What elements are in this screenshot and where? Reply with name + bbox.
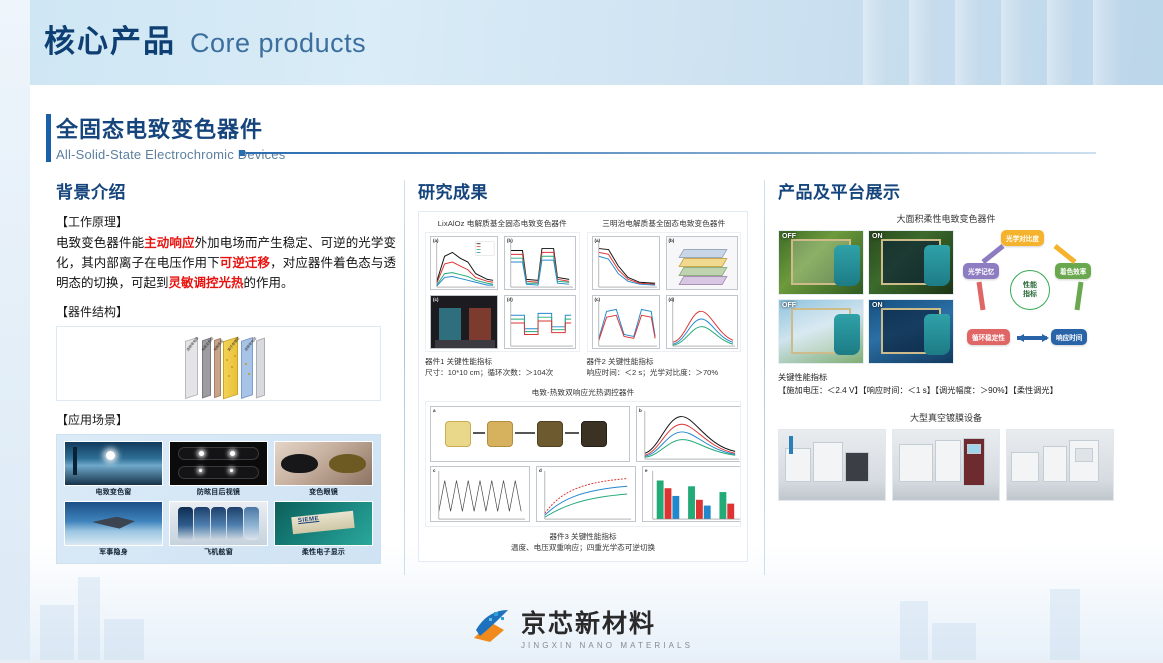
photo-sky-on[interactable]: ON [868, 299, 954, 364]
principle-highlight-2: 可逆迁移 [220, 256, 270, 270]
flexible-demo-row: OFF ON OFF ON [778, 230, 1114, 364]
flexible-device-title: 大面积柔性电致变色器件 [778, 212, 1114, 225]
photo-leaf-on[interactable]: ON [868, 230, 954, 295]
slide-root: 核心产品 Core products 全固态电致变色器件 All-Solid-S… [0, 0, 1163, 663]
structure-label: 【器件结构】 [56, 303, 396, 320]
section-divider-rule [246, 152, 1096, 154]
state-label-off-2: OFF [782, 302, 796, 309]
app-caption-1: 电致变色窗 [64, 487, 163, 497]
principle-paragraph: 电致变色器件能主动响应外加电场而产生稳定、可逆的光学变化，其内部离子在电压作用下… [56, 233, 396, 293]
hand-glove-1 [834, 245, 859, 287]
research-heading: 研究成果 [418, 178, 754, 203]
photo-sky-off[interactable]: OFF [778, 299, 864, 364]
device2-title: 三明治电解质基全固态电致变色器件 [587, 218, 742, 229]
column-research: 研究成果 LixAlOz 电解质基全固态电致变色器件 (a) [418, 178, 754, 562]
device-state-photos: OFF ON OFF ON [778, 230, 954, 364]
device2-caption-line2: 响应时间：＜2 s；光学对比度：＞70% [587, 367, 742, 378]
device2-figure: (a) (b) [587, 232, 742, 352]
app-caption-5: 飞机舷窗 [169, 547, 268, 557]
principle-highlight-1: 主动响应 [144, 236, 194, 250]
device1-caption-line1: 器件1 关键性能指标 [425, 356, 580, 367]
logo-name-cn: 京芯新材料 [521, 604, 693, 640]
metric-arrows [963, 230, 1109, 350]
page-title-cn: 核心产品 [44, 16, 176, 61]
hand-glove-4 [924, 314, 949, 356]
state-label-on-2: ON [872, 302, 883, 309]
logo-text: 京芯新材料 JINGXIN NANO MATERIALS [521, 604, 693, 650]
research-device-2[interactable]: 三明治电解质基全固态电致变色器件 (a) [587, 218, 742, 378]
section-title-en: All-Solid-State Electrochromic Devices [56, 147, 285, 162]
layer-transparent-conductor-back [256, 338, 265, 399]
equipment-photo-1[interactable] [778, 429, 886, 501]
background-heading: 背景介绍 [56, 178, 396, 203]
column-background: 背景介绍 【工作原理】 电致变色器件能主动响应外加电场而产生稳定、可逆的光学变化… [56, 178, 396, 564]
scene-label: 【应用场景】 [56, 411, 396, 428]
principle-label: 【工作原理】 [56, 213, 396, 230]
slide-header: 核心产品 Core products [30, 0, 1163, 85]
section-title-cn: 全固态电致变色器件 [56, 112, 285, 144]
photo-leaf-off[interactable]: OFF [778, 230, 864, 295]
device3-caption-line1: 器件3 关键性能指标 [425, 531, 741, 542]
device1-caption-line2: 尺寸：10*10 cm；循环次数：＞104次 [425, 367, 580, 378]
key-performance-spec: 关键性能指标 【施加电压：＜2.4 V】【响应时间：＜1 s】【调光幅度：＞90… [778, 371, 1114, 397]
anti-glare-mirror-image [169, 441, 268, 486]
layer-stack-diagram: 透明导电层 电致变色层 电解质层 离子存储层 透明导电层 [185, 331, 275, 397]
app-scenario-3[interactable]: 变色眼镜 [274, 441, 373, 497]
device1-title: LixAlOz 电解质基全固态电致变色器件 [425, 218, 580, 229]
app-scenario-4[interactable]: 军事隐身 [64, 501, 163, 557]
principle-text-4: 的作用。 [244, 276, 294, 290]
device2-caption: 器件2 关键性能指标 响应时间：＜2 s；光学对比度：＞70% [587, 356, 742, 378]
hand-glove-2 [924, 245, 949, 287]
principle-highlight-3: 灵敏调控光热 [169, 276, 244, 290]
device-structure-figure: 透明导电层 电致变色层 电解质层 离子存储层 透明导电层 [56, 326, 381, 401]
electrochromic-window-image [64, 441, 163, 486]
column-separator-1 [404, 180, 405, 575]
section-accent-bar [46, 114, 51, 162]
logo-name-en: JINGXIN NANO MATERIALS [521, 641, 693, 650]
device1-figure: (a) [425, 232, 580, 352]
aircraft-window-image [169, 501, 268, 546]
device3-title: 电致-热致双响应光热调控器件 [425, 387, 741, 398]
military-stealth-image [64, 501, 163, 546]
key-spec-title: 关键性能指标 [778, 371, 1114, 384]
company-logo: 京芯新材料 JINGXIN NANO MATERIALS [470, 604, 693, 650]
product-heading: 产品及平台展示 [778, 178, 1114, 203]
slide-footer: 京芯新材料 JINGXIN NANO MATERIALS [0, 591, 1163, 663]
equipment-title: 大型真空镀膜设备 [778, 411, 1114, 424]
equipment-photos [778, 429, 1114, 501]
hand-glove-3 [834, 314, 859, 356]
flexible-display-image: SIEME [274, 501, 373, 546]
app-scenario-5[interactable]: 飞机舷窗 [169, 501, 268, 557]
app-caption-4: 军事隐身 [64, 547, 163, 557]
app-caption-3: 变色眼镜 [274, 487, 373, 497]
research-device-3[interactable]: 电致-热致双响应光热调控器件 a b [425, 387, 741, 553]
performance-metrics-diagram: 光学对比度 光学记忆 着色效率 循环稳定性 响应时间 性能 指标 [963, 230, 1109, 350]
app-scenario-6[interactable]: SIEME 柔性电子显示 [274, 501, 373, 557]
application-scenarios-panel: 电致变色窗 防眩目后视镜 变色眼镜 军事隐身 [56, 434, 381, 564]
principle-text-1: 电致变色器件能 [56, 236, 144, 250]
column-product: 产品及平台展示 大面积柔性电致变色器件 OFF ON OFF [778, 178, 1114, 501]
app-scenario-1[interactable]: 电致变色窗 [64, 441, 163, 497]
equipment-photo-3[interactable] [1006, 429, 1114, 501]
device2-caption-line1: 器件2 关键性能指标 [587, 356, 742, 367]
research-top-row: LixAlOz 电解质基全固态电致变色器件 (a) [425, 218, 741, 378]
device3-caption-line2: 温度、电压双重响应；四重光学态可逆切换 [425, 542, 741, 553]
app-caption-2: 防眩目后视镜 [169, 487, 268, 497]
state-label-off-1: OFF [782, 233, 796, 240]
pillars-decoration [833, 0, 1163, 85]
photochromic-glasses-image [274, 441, 373, 486]
page-title-en: Core products [190, 28, 366, 59]
section-heading: 全固态电致变色器件 All-Solid-State Electrochromic… [56, 112, 285, 162]
state-label-on-1: ON [872, 233, 883, 240]
key-spec-line: 【施加电压：＜2.4 V】【响应时间：＜1 s】【调光幅度：＞90%】【柔性调光… [778, 384, 1114, 397]
device3-figure: a b [425, 401, 741, 527]
equipment-photo-2[interactable] [892, 429, 1000, 501]
research-results-panel: LixAlOz 电解质基全固态电致变色器件 (a) [418, 211, 748, 562]
logo-mark-icon [470, 608, 512, 646]
app-scenario-2[interactable]: 防眩目后视镜 [169, 441, 268, 497]
page-title: 核心产品 Core products [44, 16, 366, 61]
app-caption-6: 柔性电子显示 [274, 547, 373, 557]
research-device-1[interactable]: LixAlOz 电解质基全固态电致变色器件 (a) [425, 218, 580, 378]
device3-caption: 器件3 关键性能指标 温度、电压双重响应；四重光学态可逆切换 [425, 531, 741, 553]
device1-caption: 器件1 关键性能指标 尺寸：10*10 cm；循环次数：＞104次 [425, 356, 580, 378]
application-grid: 电致变色窗 防眩目后视镜 变色眼镜 军事隐身 [64, 441, 373, 557]
column-separator-2 [764, 180, 765, 575]
